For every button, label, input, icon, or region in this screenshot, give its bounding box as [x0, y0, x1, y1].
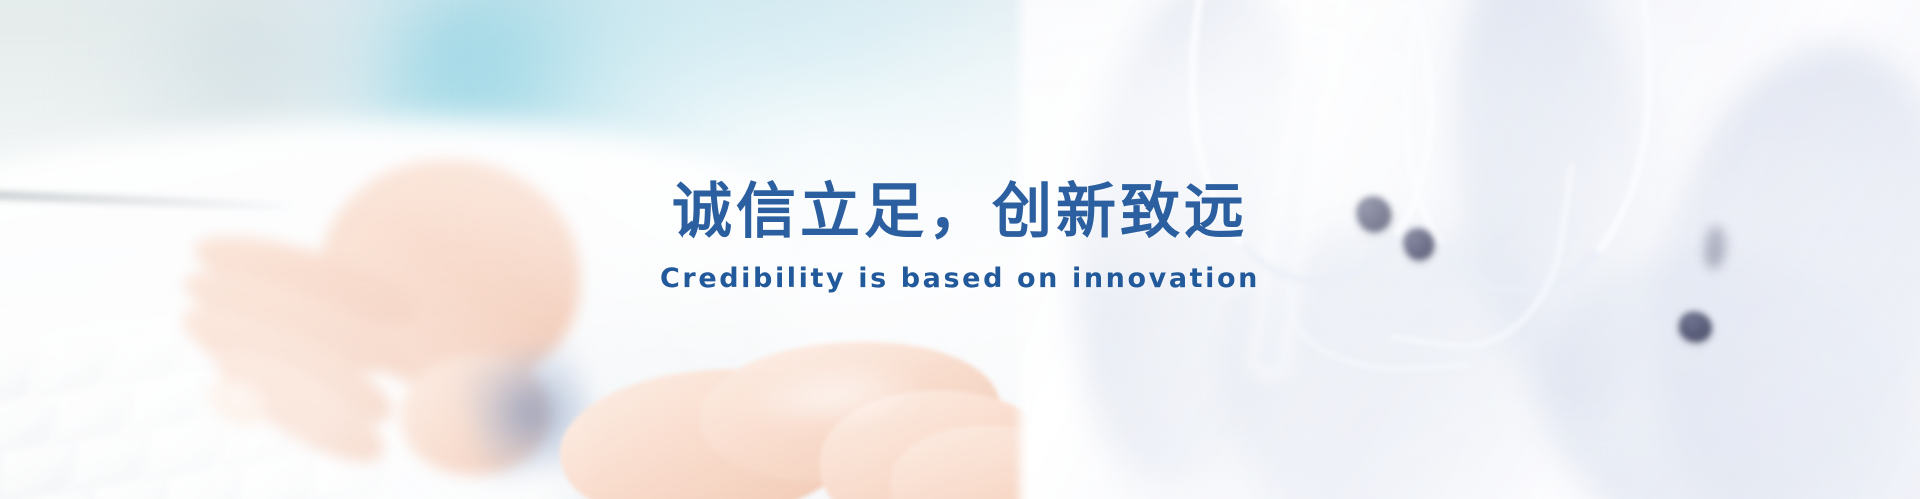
- hero-banner: 诚信立足，创新致远 Credibility is based on innova…: [0, 0, 1920, 499]
- banner-subheadline: Credibility is based on innovation: [0, 262, 1920, 296]
- banner-caption: 诚信立足，创新致远 Credibility is based on innova…: [0, 178, 1920, 296]
- banner-headline: 诚信立足，创新致远: [0, 178, 1920, 246]
